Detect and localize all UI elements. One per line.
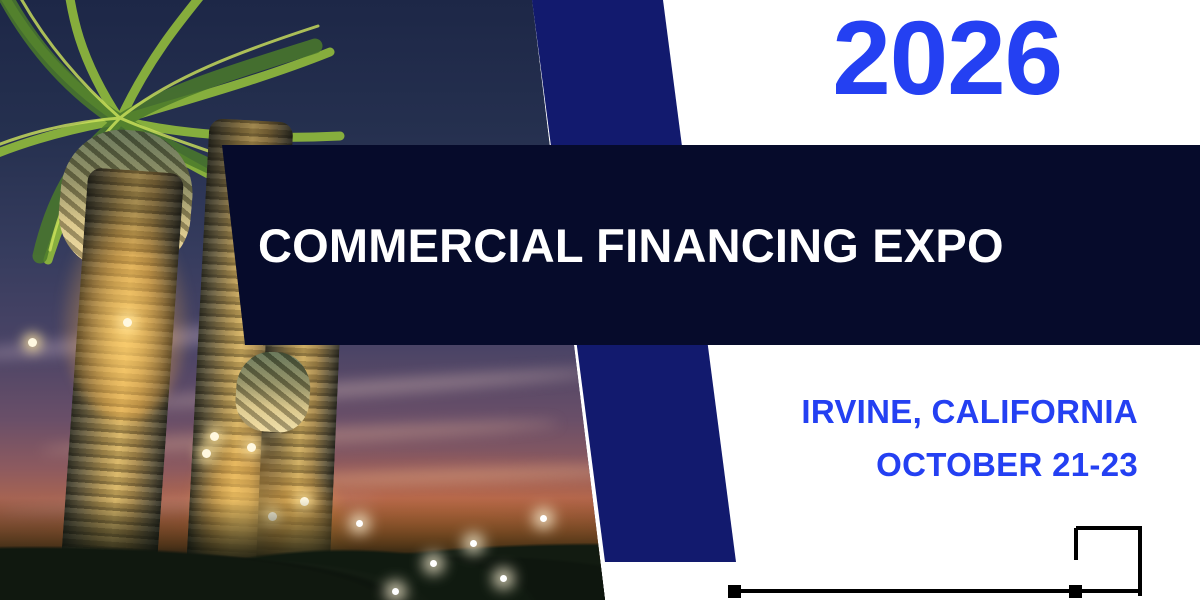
palm-crown — [233, 350, 312, 435]
light-fixture — [123, 318, 132, 327]
poster-canvas: 2026 COMMERCIAL FINANCING EXPO IRVINE, C… — [0, 0, 1200, 600]
light-fixture — [247, 443, 256, 452]
street-lamp — [356, 520, 363, 527]
street-lamp — [392, 588, 399, 595]
light-fixture — [28, 338, 37, 347]
event-year: 2026 — [832, 6, 1062, 111]
street-lamp — [500, 575, 507, 582]
light-fixture — [210, 432, 219, 441]
street-lamp — [430, 560, 437, 567]
event-dates: OCTOBER 21-23 — [801, 439, 1138, 492]
event-location: IRVINE, CALIFORNIA — [801, 386, 1138, 439]
bracket-line-icon — [724, 520, 1144, 600]
light-fixture — [202, 449, 211, 458]
street-lamp — [470, 540, 477, 547]
street-lamp — [540, 515, 547, 522]
line-decoration — [724, 520, 1144, 600]
event-details: IRVINE, CALIFORNIA OCTOBER 21-23 — [801, 386, 1138, 492]
foliage-silhouette — [0, 498, 680, 600]
event-title: COMMERCIAL FINANCING EXPO — [258, 145, 1188, 345]
